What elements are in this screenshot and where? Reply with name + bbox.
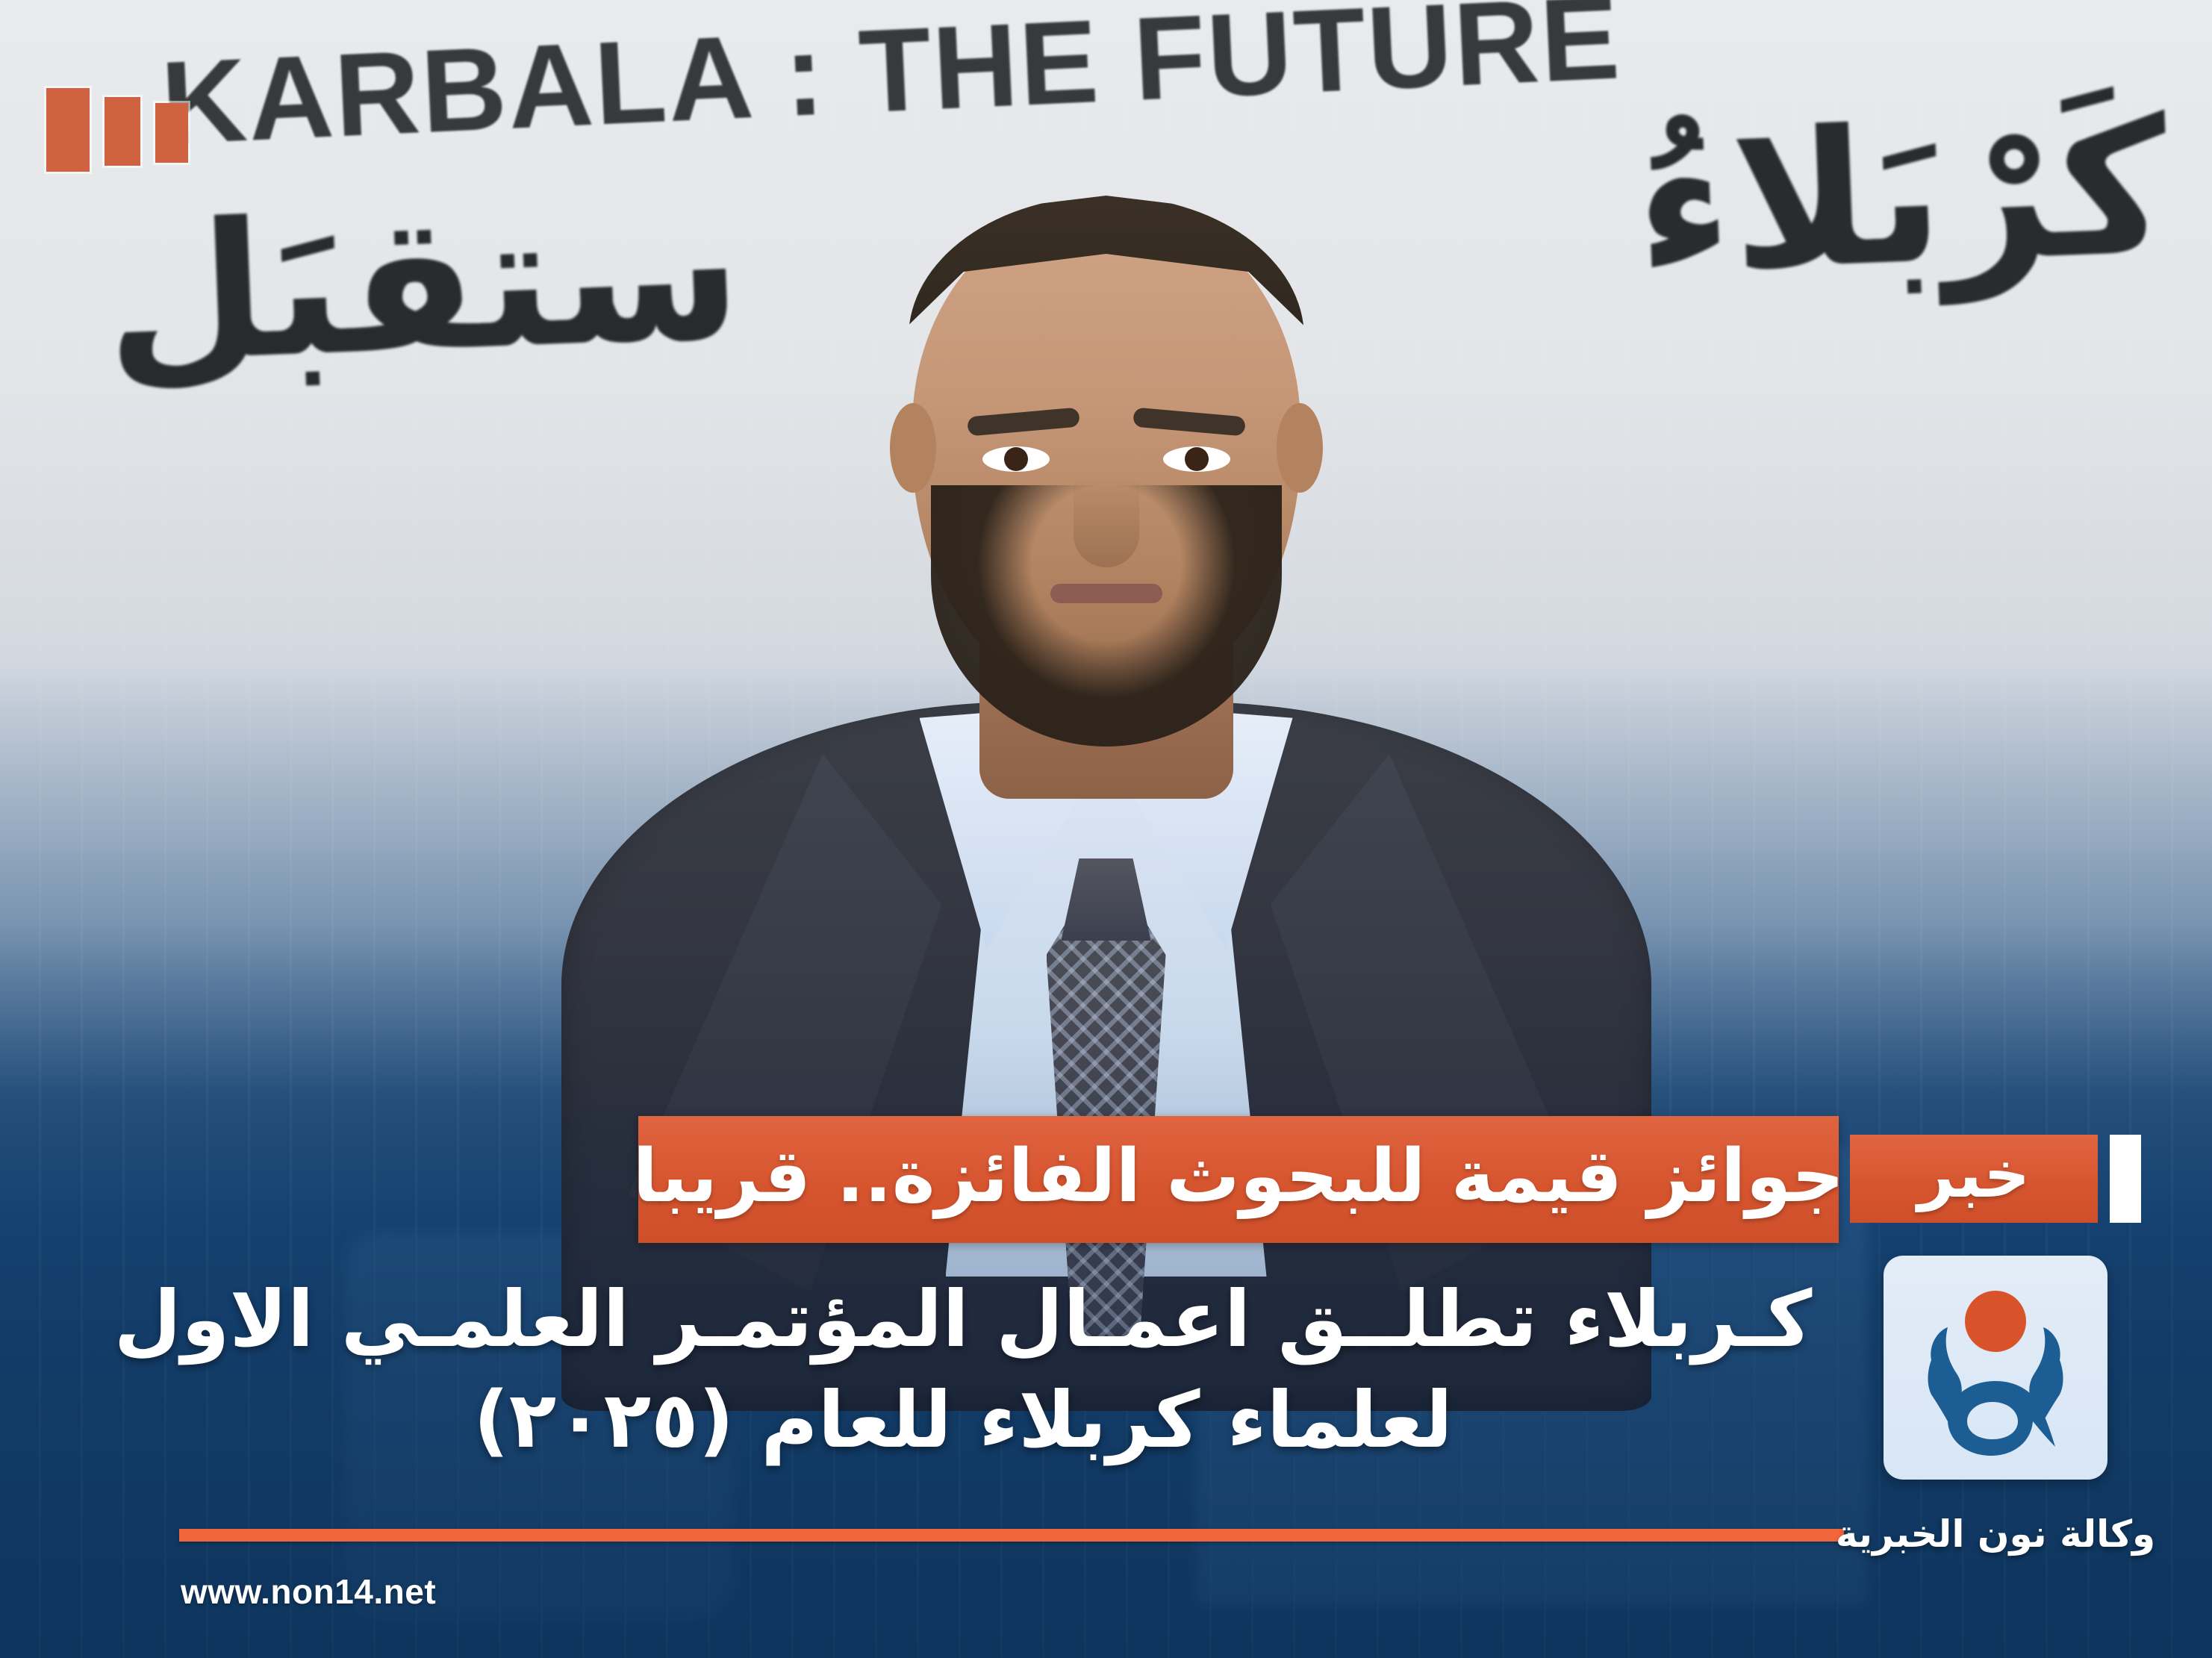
kicker-banner-text: جوائز قيمة للبحوث الفائزة.. قريبا (632, 1140, 1844, 1219)
mouth (1050, 584, 1162, 603)
news-badge-white-tick (2110, 1135, 2141, 1223)
backdrop-text-arabic-karbala: كَرْبَلاءُ (1631, 78, 2171, 315)
eye-left (982, 446, 1050, 472)
three-bars-mark-icon (46, 88, 188, 172)
headline: كـربلاء تطلــق اعمـال المؤتمـر العلمـي ا… (90, 1269, 1836, 1471)
eye-right (1163, 446, 1230, 472)
mark-bar-2 (105, 97, 140, 166)
ear-left (890, 403, 936, 493)
ear-right (1277, 403, 1323, 493)
news-badge: خبر (1850, 1135, 2141, 1223)
pupil-left (1004, 447, 1028, 471)
mark-bar-1 (46, 88, 90, 172)
headline-line-1: كـربلاء تطلــق اعمـال المؤتمـر العلمـي ا… (90, 1269, 1836, 1370)
brand-column: خبر وكالة نون الخبرية (1839, 1135, 2152, 1556)
news-badge-plate: خبر (1850, 1135, 2098, 1223)
mark-bar-3 (155, 103, 188, 163)
noon-news-agency-logo-icon (1884, 1256, 2107, 1480)
kicker-banner: جوائز قيمة للبحوث الفائزة.. قريبا (638, 1116, 1839, 1243)
headline-line-2: لعلماء كربلاء للعام (٢٠٢٥) (90, 1370, 1836, 1471)
website-url[interactable]: www.non14.net (181, 1571, 436, 1612)
horizontal-divider (179, 1529, 1844, 1542)
news-badge-label: خبر (1918, 1143, 2031, 1215)
agency-name: وكالة نون الخبرية (1836, 1512, 2155, 1556)
news-card: KARBALA : THE FUTURE كَرْبَلاءُ ستقبَل (0, 0, 2212, 1658)
pupil-right (1185, 447, 1209, 471)
